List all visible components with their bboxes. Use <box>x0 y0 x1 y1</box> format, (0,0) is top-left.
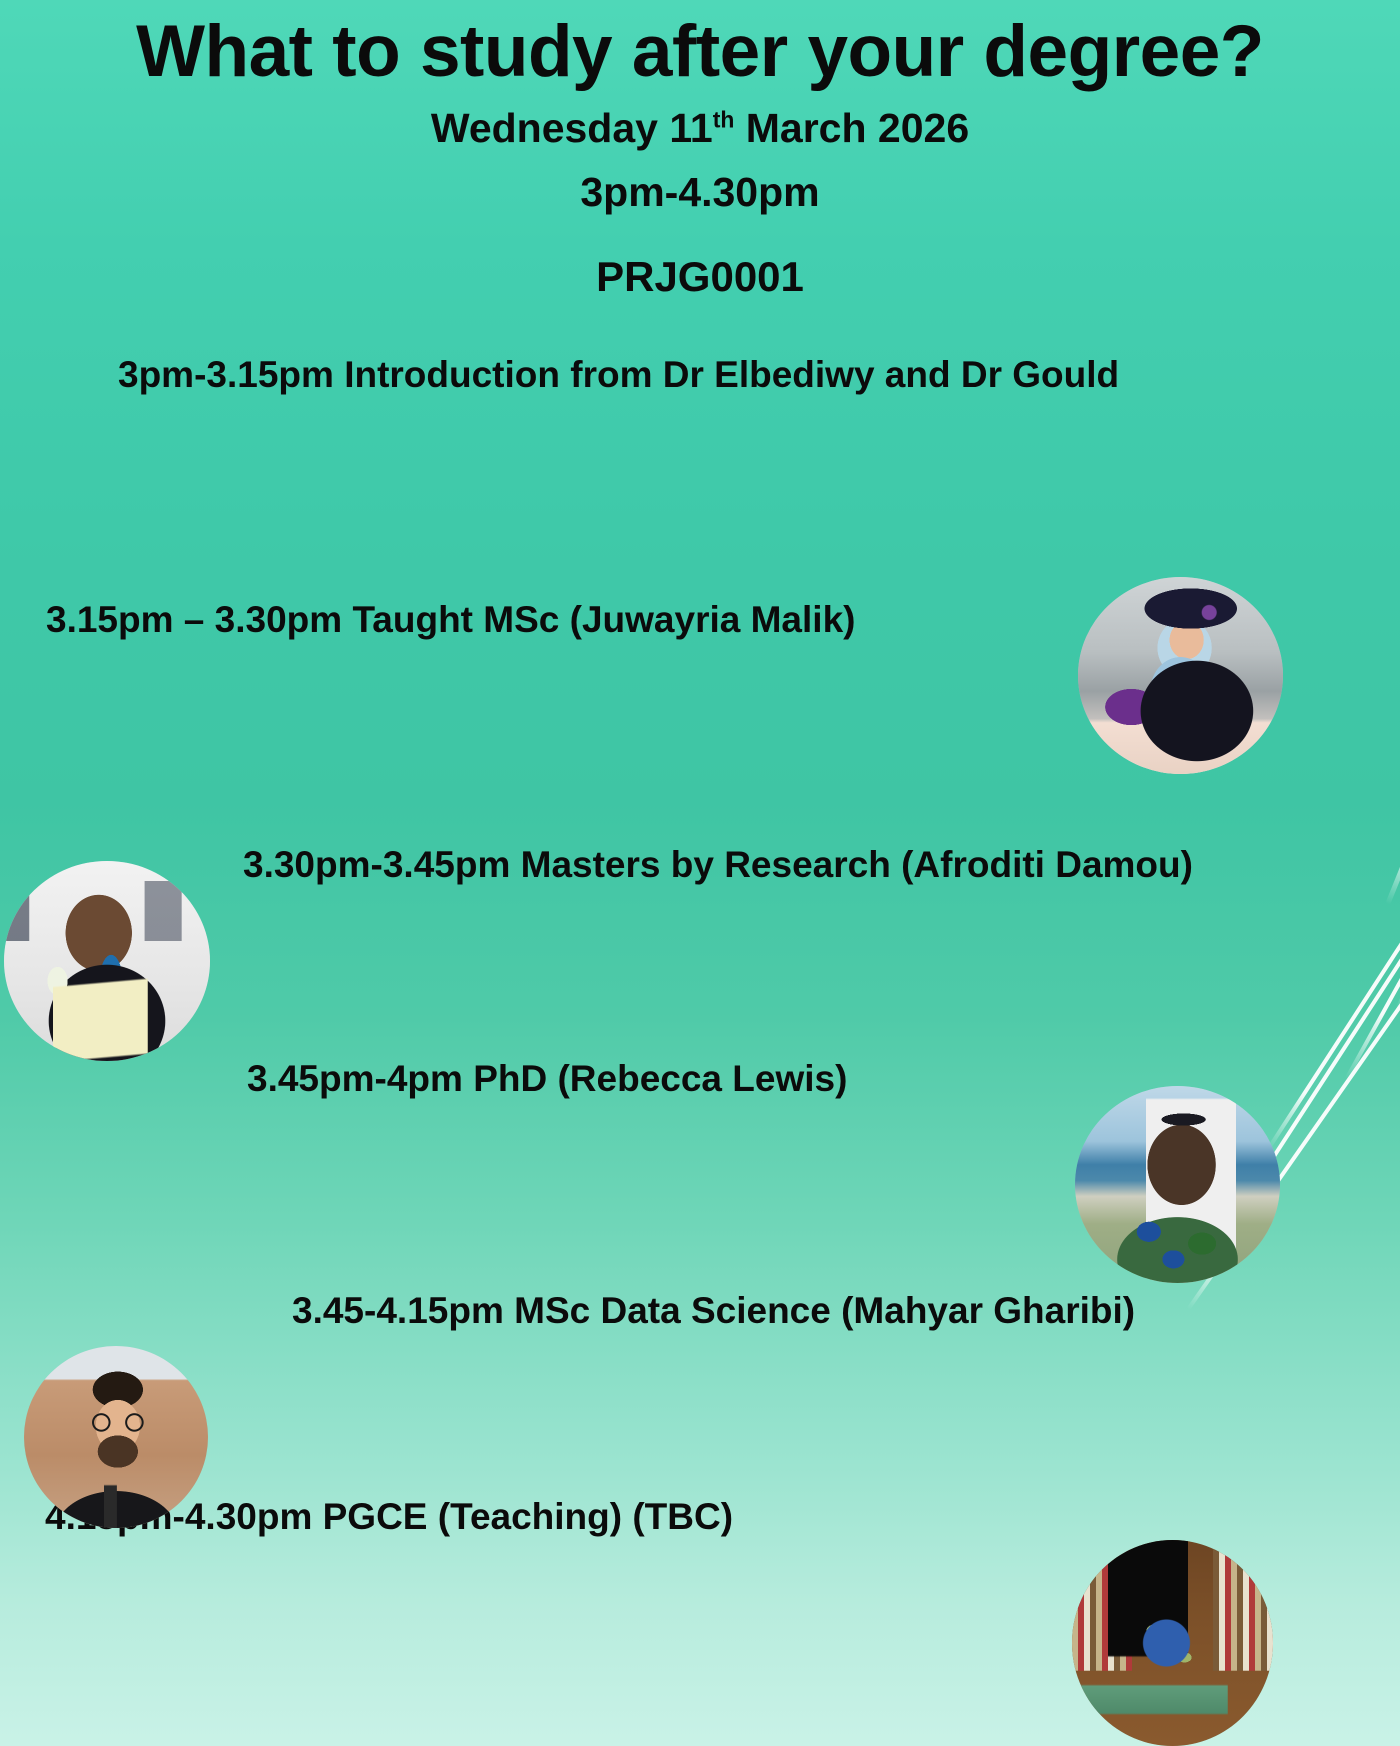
photo-mahyar-inner <box>24 1346 208 1528</box>
streak-4 <box>1267 678 1400 1150</box>
woman-at-beach-photo <box>1075 1086 1280 1283</box>
photo-pgce-inner <box>1072 1540 1273 1746</box>
man-with-glasses-in-suit-photo <box>24 1346 208 1528</box>
streak-2 <box>1395 500 1400 1010</box>
agenda-item-masters-by-research: 3.30pm-3.45pm Masters by Research (Afrod… <box>243 845 1193 886</box>
graduate-holding-certificate-photo <box>4 861 210 1061</box>
streak-3 <box>1345 536 1400 1080</box>
photo-rebecca-inner <box>1075 1086 1280 1283</box>
agenda-item-phd: 3.45pm-4pm PhD (Rebecca Lewis) <box>247 1059 847 1100</box>
poster-time: 3pm-4.30pm <box>0 168 1400 217</box>
globe-on-education-book-photo <box>1072 1540 1273 1746</box>
poster-date: Wednesday 11th March 2026 <box>0 104 1400 153</box>
agenda-item-taught-msc: 3.15pm – 3.30pm Taught MSc (Juwayria Mal… <box>46 600 855 641</box>
poster-date-prefix: Wednesday 11 <box>431 105 713 151</box>
poster-date-ordinal: th <box>713 106 735 132</box>
streak-1 <box>1385 384 1400 905</box>
photo-juwayria-inner <box>1078 577 1283 774</box>
poster-room-code: PRJG0001 <box>0 252 1400 302</box>
agenda-item-msc-data-science: 3.45-4.15pm MSc Data Science (Mahyar Gha… <box>292 1291 1135 1332</box>
poster-date-suffix: March 2026 <box>734 105 969 151</box>
photo-afroditi-inner <box>4 861 210 1061</box>
graduate-in-cap-and-hijab-at-table-photo <box>1078 577 1283 774</box>
poster-canvas: What to study after your degree? Wednesd… <box>0 0 1400 1746</box>
poster-title: What to study after your degree? <box>0 14 1400 91</box>
agenda-item-introduction: 3pm-3.15pm Introduction from Dr Elbediwy… <box>118 355 1119 396</box>
